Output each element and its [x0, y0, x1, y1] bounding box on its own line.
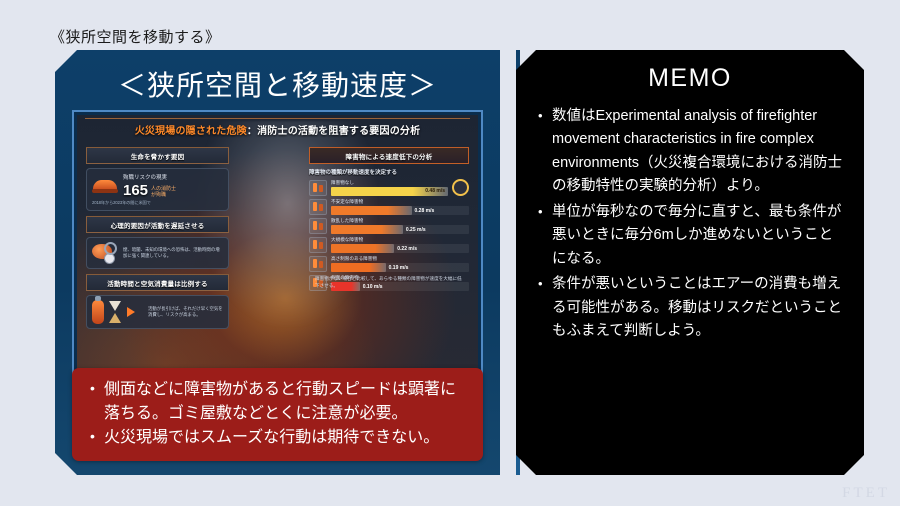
speed-bar-row: 不安定な障害物0.28 m/s	[309, 199, 469, 215]
infographic-footer-note: 障害物がない場合と比較して、あらゆる種類の障害物が速度を大幅に低下させる。	[315, 276, 463, 289]
speed-bar-fill: 0.28 m/s	[331, 206, 412, 215]
hourglass-icon	[109, 300, 122, 324]
right-section-header: 障害物による速度低下の分析	[309, 147, 469, 164]
psych-row: 煙、暗闇、未知の環境への恐怖は、活動時間の増加に強く関連している。	[92, 242, 223, 264]
speed-bar-row: 高さ制限のある障害物0.19 m/s	[309, 256, 469, 272]
speed-bar-wrap: 散乱した障害物0.25 m/s	[331, 218, 469, 234]
speed-bar-value: 0.22 m/s	[397, 246, 420, 252]
memo-list: 数値はExperimental analysis of firefighter …	[534, 105, 846, 344]
memo-bullet: 数値はExperimental analysis of firefighter …	[552, 105, 846, 199]
red-callout-box: 側面などに障害物があると行動スピードは顕著に落ちる。ゴミ屋敷などとくに注意が必要…	[72, 368, 483, 461]
obstacle-icon	[309, 199, 327, 215]
speed-bar-label: 高さ制限のある障害物	[331, 256, 469, 262]
obstacle-icon	[309, 256, 327, 272]
air-card-header: 活動時間と空気消費量は比例する	[86, 274, 229, 291]
speed-bar-wrap: 高さ制限のある障害物0.19 m/s	[331, 256, 469, 272]
obstacle-icon	[309, 237, 327, 253]
callout-bullet: 火災現場ではスムーズな行動は期待できない。	[104, 426, 469, 450]
memo-body: 数値はExperimental analysis of firefighter …	[534, 105, 846, 346]
watermark: FTET	[842, 485, 890, 502]
speed-bar-value: 0.28 m/s	[415, 208, 438, 214]
stopwatch-icon	[452, 179, 469, 196]
speed-bar-wrap: 障害物なし0.48 m/s	[331, 180, 448, 196]
speed-bar-track: 0.48 m/s	[331, 187, 448, 196]
memo-bullet: 単位が毎秒なので毎分に直すと、最も条件が悪いときに毎分6mしか進めないということ…	[552, 201, 846, 271]
fatality-fine-print: 2018年から2023年の間に米国で	[92, 200, 223, 206]
helmet-icon	[92, 177, 118, 194]
obstacle-icon	[309, 218, 327, 234]
air-note: 活動が長引けば、それだけ早く空気を消費し、リスクが高まる。	[148, 306, 223, 318]
slide-root: 《狭所空間を移動する》 ＜狭所空間と移動速度＞ 火災現場の隠された危険：消防士の…	[0, 0, 900, 506]
speed-bar-label: 散乱した障害物	[331, 218, 469, 224]
infographic-title-highlight: 火災現場の隠された危険	[135, 126, 247, 137]
speed-bar-row: 大規模な障害物0.22 m/s	[309, 237, 469, 253]
callout-list: 側面などに障害物があると行動スピードは顕著に落ちる。ゴミ屋敷などとくに注意が必要…	[86, 378, 469, 450]
speed-bar-track: 0.22 m/s	[331, 244, 469, 253]
air-row: 活動が長引けば、それだけ早く空気を消費し、リスクが高まる。	[92, 300, 223, 324]
speed-bar-label: 不安定な障害物	[331, 199, 469, 205]
speed-bar-row: 障害物なし0.48 m/s	[309, 179, 469, 196]
arrow-right-icon	[127, 307, 143, 317]
speed-bar-fill: 0.19 m/s	[331, 263, 386, 272]
fatality-side-line1: 人の消防士	[151, 186, 176, 192]
speed-bar-track: 0.19 m/s	[331, 263, 469, 272]
psych-card-header: 心理的要因が活動を遅延させる	[86, 216, 229, 233]
speed-bar-value: 0.19 m/s	[389, 265, 412, 271]
infographic-title: 火災現場の隠された危険：消防士の活動を阻害する要因の分析	[77, 122, 478, 137]
speed-bar-wrap: 大規模な障害物0.22 m/s	[331, 237, 469, 253]
speed-bar-row: 散乱した障害物0.25 m/s	[309, 218, 469, 234]
infographic-left-column: 生命を脅かす要因 殉職リスクの現実 165 人の消防士 が殉職	[86, 147, 229, 329]
fatality-stat-row: 殉職リスクの現実 165 人の消防士 が殉職	[92, 173, 223, 198]
left-section-header: 生命を脅かす要因	[86, 147, 229, 164]
speed-bar-track: 0.25 m/s	[331, 225, 469, 234]
infographic-image: 火災現場の隠された危険：消防士の活動を阻害する要因の分析 生命を脅かす要因 殉職…	[77, 115, 478, 410]
speed-chart-caption: 障害物の種類が移動速度を決定する	[309, 168, 469, 176]
speed-bar-fill: 0.22 m/s	[331, 244, 394, 253]
obstacle-icon	[309, 180, 327, 196]
air-tank-icon	[92, 300, 104, 324]
speed-bar-track: 0.28 m/s	[331, 206, 469, 215]
speed-bar-chart: 障害物なし0.48 m/s不安定な障害物0.28 m/s散乱した障害物0.25 …	[309, 179, 469, 291]
callout-bullet: 側面などに障害物があると行動スピードは顕著に落ちる。ゴミ屋敷などとくに注意が必要…	[104, 378, 469, 426]
speed-bar-value: 0.25 m/s	[406, 227, 429, 233]
speed-bar-fill: 0.48 m/s	[331, 187, 448, 196]
infographic-right-column: 障害物による速度低下の分析 障害物の種類が移動速度を決定する 障害物なし0.48…	[309, 147, 469, 294]
clock-icon	[104, 253, 115, 264]
fatality-number-side: 人の消防士 が殉職	[151, 186, 176, 199]
speed-bar-wrap: 不安定な障害物0.28 m/s	[331, 199, 469, 215]
left-content-panel: ＜狭所空間と移動速度＞ 火災現場の隠された危険：消防士の活動を阻害する要因の分析…	[55, 50, 500, 475]
memo-panel: MEMO 数値はExperimental analysis of firefig…	[516, 50, 864, 475]
slide-heading: 《狭所空間を移動する》	[50, 26, 221, 47]
left-panel-title: ＜狭所空間と移動速度＞	[55, 64, 500, 104]
fatality-stat-card: 殉職リスクの現実 165 人の消防士 が殉職 2018年から	[86, 168, 229, 211]
speed-bar-label: 大規模な障害物	[331, 237, 469, 243]
speed-bar-value: 0.48 m/s	[425, 188, 448, 194]
infographic-title-rest: ：消防士の活動を阻害する要因の分析	[247, 126, 420, 137]
psych-card: 煙、暗闇、未知の環境への恐怖は、活動時間の増加に強く関連している。	[86, 237, 229, 269]
speed-bar-label: 障害物なし	[331, 180, 448, 186]
speed-bar-fill: 0.25 m/s	[331, 225, 403, 234]
fatality-side-line2: が殉職	[151, 192, 176, 198]
psych-note: 煙、暗闇、未知の環境への恐怖は、活動時間の増加に強く関連している。	[123, 247, 223, 259]
air-card: 活動が長引けば、それだけ早く空気を消費し、リスクが高まる。	[86, 295, 229, 329]
brain-gear-icon	[92, 242, 118, 264]
fatality-caption: 殉職リスクの現実	[123, 173, 223, 181]
fatality-number: 165	[123, 183, 148, 198]
memo-title: MEMO	[516, 64, 864, 93]
memo-bullet: 条件が悪いということはエアーの消費も増える可能性がある。移動はリスクだということ…	[552, 273, 846, 343]
